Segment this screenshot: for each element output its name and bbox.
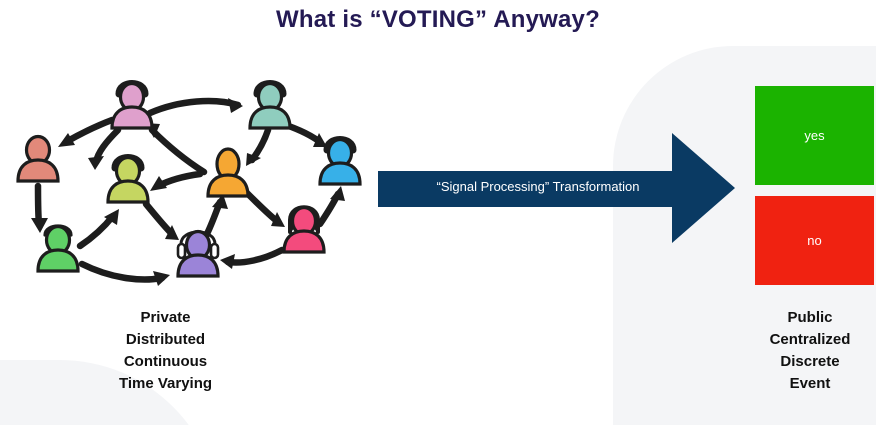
edge-olive-to-purple xyxy=(146,204,179,240)
result-box-no[interactable]: no xyxy=(755,196,874,285)
people-network-diagram xyxy=(0,68,380,300)
edge-teal-to-orange xyxy=(246,130,268,166)
edge-green-to-purple xyxy=(82,264,170,286)
edge-orange-to-magenta xyxy=(246,192,285,227)
node-person-magenta[interactable] xyxy=(284,207,324,252)
edge-orange-to-olive xyxy=(150,174,200,191)
caption-left-line-4: Time Varying xyxy=(58,373,273,395)
edge-magenta-to-blue xyxy=(320,186,345,224)
node-person-teal[interactable] xyxy=(250,84,290,129)
node-person-olive[interactable] xyxy=(108,158,148,203)
caption-right-line-3: Discrete xyxy=(740,351,876,373)
slide-canvas: What is “VOTING” Anyway? xyxy=(0,0,876,425)
network-nodes xyxy=(18,84,360,277)
edge-salmon-to-green xyxy=(31,186,48,233)
edge-magenta-to-purple xyxy=(220,250,282,269)
node-person-salmon[interactable] xyxy=(18,137,58,182)
node-person-purple[interactable] xyxy=(178,232,218,277)
page-title: What is “VOTING” Anyway? xyxy=(0,6,876,34)
arrow-label: “Signal Processing” Transformation xyxy=(408,179,668,194)
edge-purple-to-orange xyxy=(206,194,228,236)
caption-left-line-2: Distributed xyxy=(58,329,273,351)
caption-left-line-3: Continuous xyxy=(58,351,273,373)
node-person-green[interactable] xyxy=(38,226,78,271)
caption-left: Private Distributed Continuous Time Vary… xyxy=(58,307,273,395)
node-person-orange[interactable] xyxy=(208,149,248,196)
result-label-no: no xyxy=(807,233,821,248)
caption-right-line-1: Public xyxy=(740,307,876,329)
caption-right: Public Centralized Discrete Event xyxy=(740,307,876,395)
result-box-yes[interactable]: yes xyxy=(755,86,874,185)
edge-green-to-olive xyxy=(80,209,119,246)
caption-right-line-4: Event xyxy=(740,373,876,395)
edge-pink-to-teal xyxy=(150,98,243,113)
edge-orange-to-pink xyxy=(145,123,204,172)
result-label-yes: yes xyxy=(804,128,824,143)
caption-right-line-2: Centralized xyxy=(740,329,876,351)
caption-left-line-1: Private xyxy=(58,307,273,329)
node-person-blue[interactable] xyxy=(320,140,360,185)
edge-teal-to-blue xyxy=(286,125,327,147)
node-person-pink[interactable] xyxy=(112,84,152,129)
